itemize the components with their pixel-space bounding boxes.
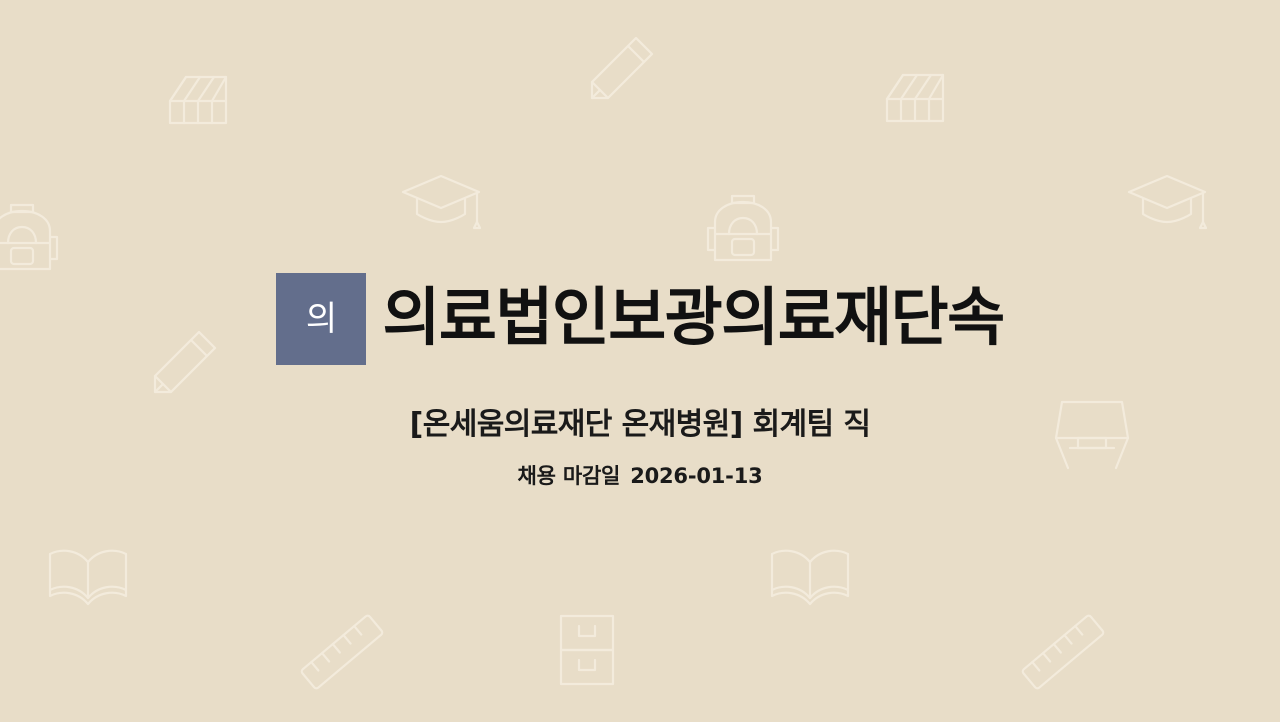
company-title-row: 의 의료법인보광의료재단속 [0, 243, 1280, 394]
job-posting-subtitle: [온세움의료재단 온재병원] 회계팀 직 [0, 406, 1280, 444]
card-content: 의 의료법인보광의료재단속 [온세움의료재단 온재병원] 회계팀 직 채용 마감… [0, 0, 1280, 722]
page-title: 의료법인보광의료재단속 [382, 285, 1003, 352]
deadline-label: 채용 마감일 [517, 464, 620, 488]
application-deadline: 채용 마감일2026-01-13 [0, 463, 1280, 490]
job-posting-card: 의 의료법인보광의료재단속 [온세움의료재단 온재병원] 회계팀 직 채용 마감… [0, 0, 1280, 722]
company-initial-badge: 의 [276, 273, 366, 365]
deadline-value: 2026-01-13 [630, 464, 762, 488]
